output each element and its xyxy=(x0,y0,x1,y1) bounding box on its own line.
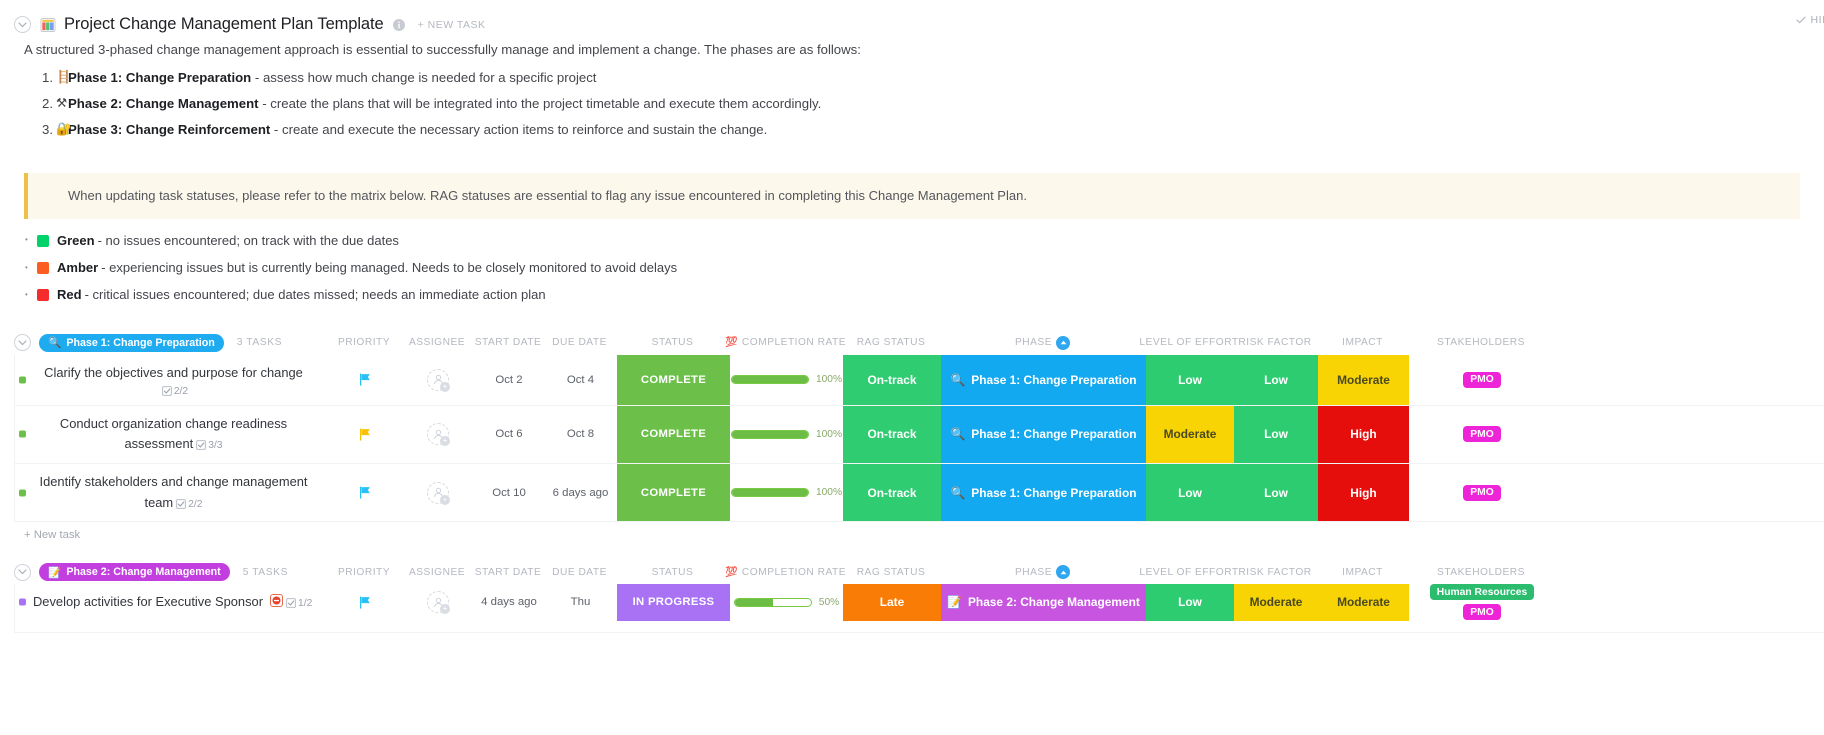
assignee-cell[interactable]: + xyxy=(402,464,474,521)
priority-flag-icon[interactable] xyxy=(359,373,371,386)
task-name: Develop activities for Executive Sponsor xyxy=(33,594,263,609)
task-table: 🔍Phase 1: Change Preparation3 TASKSPRIOR… xyxy=(0,331,1824,633)
group-pill-label: Phase 1: Change Preparation xyxy=(66,337,214,349)
completion-percent: 100% xyxy=(816,487,842,498)
group-task-count: 5 TASKS xyxy=(243,567,288,578)
rag-legend-desc: - no issues encountered; on track with t… xyxy=(98,231,399,251)
rag-status-cell[interactable]: On-track xyxy=(843,464,941,521)
phase-overview-item: 🪜Phase 1: Change Preparation - assess ho… xyxy=(42,68,1824,94)
rag-legend-desc: - experiencing issues but is currently b… xyxy=(101,258,677,278)
risk-factor-cell[interactable]: Moderate xyxy=(1234,584,1318,621)
rag-color-swatch xyxy=(37,235,49,247)
progress-bar xyxy=(731,430,809,439)
due-date-cell[interactable]: Thu xyxy=(544,584,617,621)
priority-cell[interactable] xyxy=(328,464,402,521)
task-name: Identify stakeholders and change managem… xyxy=(39,474,307,510)
phase-cell[interactable]: 🔍Phase 1: Change Preparation xyxy=(941,464,1146,521)
phase-cell-emoji-icon: 🔍 xyxy=(950,373,965,387)
phase-emoji-icon: 🪜 xyxy=(56,68,72,87)
phase-cell-label: Phase 1: Change Preparation xyxy=(971,373,1136,387)
stakeholders-cell[interactable]: Human ResourcesPMO xyxy=(1409,584,1555,621)
intro-paragraph: A structured 3-phased change management … xyxy=(24,40,1824,59)
rag-legend-name: Amber xyxy=(57,258,98,278)
stakeholder-tag[interactable]: Human Resources xyxy=(1430,584,1534,600)
subtask-count: 1/2 xyxy=(286,598,312,609)
rag-status-cell[interactable]: On-track xyxy=(843,406,941,463)
subtask-check-icon xyxy=(196,440,206,450)
rag-legend-name: Red xyxy=(57,285,82,305)
assignee-cell[interactable]: + xyxy=(402,355,474,405)
status-cell[interactable]: COMPLETE xyxy=(617,406,730,463)
phase-cell[interactable]: 🔍Phase 1: Change Preparation xyxy=(941,355,1146,405)
start-date-cell[interactable]: Oct 10 xyxy=(474,464,544,521)
phase-emoji-icon: ⚒ xyxy=(56,94,67,113)
intro-section: A structured 3-phased change management … xyxy=(0,40,1824,146)
collapse-group-icon[interactable] xyxy=(14,564,31,581)
rag-callout: When updating task statuses, please refe… xyxy=(24,173,1800,219)
phase-emoji-icon: 🔐 xyxy=(56,120,72,139)
table-row[interactable]: Conduct organization change readiness as… xyxy=(15,406,1824,464)
add-assignee-icon[interactable]: + xyxy=(440,604,450,614)
level-of-effort-cell[interactable]: Moderate xyxy=(1146,406,1234,463)
completion-rate-cell[interactable]: 50% xyxy=(730,584,843,621)
group-phase-pill[interactable]: 🔍Phase 1: Change Preparation xyxy=(39,334,224,352)
phase-cell-label: Phase 2: Change Management xyxy=(968,595,1140,609)
document-header: Project Change Management Plan Template … xyxy=(0,0,1824,40)
subtask-check-icon xyxy=(176,499,186,509)
completion-rate-cell[interactable]: 100% xyxy=(730,406,843,463)
due-date-cell[interactable]: 6 days ago xyxy=(544,464,617,521)
task-name: Clarify the objectives and purpose for c… xyxy=(44,365,303,380)
completion-percent: 100% xyxy=(816,374,842,385)
completion-rate-cell[interactable]: 100% xyxy=(730,464,843,521)
info-icon[interactable] xyxy=(393,19,405,31)
assignee-avatar[interactable]: + xyxy=(427,482,449,504)
hide-toggle[interactable]: HIDE xyxy=(1796,14,1824,26)
stakeholder-tag[interactable]: PMO xyxy=(1463,485,1500,501)
progress-bar xyxy=(734,598,812,607)
completion-rate-cell[interactable]: 100% xyxy=(730,355,843,405)
status-cell[interactable]: IN PROGRESS xyxy=(617,584,730,621)
phase-cell-emoji-icon: 🔍 xyxy=(950,427,965,441)
rag-legend-item: •Green - no issues encountered; on track… xyxy=(37,231,1824,258)
task-status-bullet xyxy=(19,599,26,606)
assignee-cell[interactable]: + xyxy=(402,584,474,621)
progress-bar xyxy=(731,375,809,384)
due-date-cell[interactable]: Oct 8 xyxy=(544,406,617,463)
priority-cell[interactable] xyxy=(328,406,402,463)
new-task-header-button[interactable]: + NEW TASK xyxy=(418,19,486,31)
task-group: 🔍Phase 1: Change Preparation3 TASKSPRIOR… xyxy=(0,331,1824,541)
collapse-document-icon[interactable] xyxy=(14,16,31,33)
hide-label: HIDE xyxy=(1811,14,1824,26)
priority-flag-icon[interactable] xyxy=(359,428,371,441)
subtask-check-icon xyxy=(286,598,296,608)
group-pill-emoji-icon: 📝 xyxy=(48,566,61,579)
start-date-cell[interactable]: Oct 6 xyxy=(474,406,544,463)
task-name-cell[interactable]: Develop activities for Executive Sponsor… xyxy=(15,584,328,621)
status-cell[interactable]: COMPLETE xyxy=(617,355,730,405)
table-row[interactable]: Clarify the objectives and purpose for c… xyxy=(15,355,1824,406)
stakeholders-cell[interactable]: PMO xyxy=(1409,355,1555,405)
group-pill-label: Phase 2: Change Management xyxy=(66,566,220,578)
task-group: 📝Phase 2: Change Management5 TASKSPRIORI… xyxy=(0,560,1824,633)
risk-factor-cell[interactable]: Low xyxy=(1234,464,1318,521)
risk-factor-cell[interactable]: Low xyxy=(1234,355,1318,405)
page-title: Project Change Management Plan Template xyxy=(64,15,384,34)
rag-status-cell[interactable]: Late xyxy=(843,584,941,621)
status-cell[interactable]: COMPLETE xyxy=(617,464,730,521)
subtask-count: 2/2 xyxy=(162,386,188,397)
table-row[interactable]: Develop activities for Executive Sponsor… xyxy=(15,584,1824,633)
start-date-cell[interactable]: 4 days ago xyxy=(474,584,544,621)
priority-cell[interactable] xyxy=(328,584,402,621)
rag-callout-text: When updating task statuses, please refe… xyxy=(68,188,1027,203)
priority-flag-icon[interactable] xyxy=(359,596,371,609)
list-table-icon xyxy=(40,17,56,33)
start-date-cell[interactable]: Oct 2 xyxy=(474,355,544,405)
phase-overview-desc: - assess how much change is needed for a… xyxy=(251,70,596,85)
subtask-check-icon xyxy=(162,386,172,396)
impact-cell[interactable]: Moderate xyxy=(1318,584,1409,621)
stakeholders-cell[interactable]: PMO xyxy=(1409,464,1555,521)
phase-overview-name: Phase 1: Change Preparation xyxy=(68,70,251,85)
stakeholder-tag[interactable]: PMO xyxy=(1463,426,1500,442)
stakeholders-cell[interactable]: PMO xyxy=(1409,406,1555,463)
group-pill-emoji-icon: 🔍 xyxy=(48,336,61,349)
rag-legend: •Green - no issues encountered; on track… xyxy=(0,231,1824,312)
completion-percent: 100% xyxy=(816,429,842,440)
bullet-icon: • xyxy=(25,234,37,246)
check-icon xyxy=(1796,16,1806,24)
collapse-group-icon[interactable] xyxy=(14,334,31,351)
due-date-cell[interactable]: Oct 4 xyxy=(544,355,617,405)
subtask-count: 2/2 xyxy=(176,499,202,510)
bullet-icon: • xyxy=(25,262,37,274)
task-name: Conduct organization change readiness as… xyxy=(60,416,287,452)
phase-cell-emoji-icon: 📝 xyxy=(947,595,962,609)
phase-cell[interactable]: 🔍Phase 1: Change Preparation xyxy=(941,406,1146,463)
table-row[interactable]: Identify stakeholders and change managem… xyxy=(15,464,1824,522)
phase-overview-name: Phase 2: Change Management xyxy=(68,96,259,111)
phase-cell-label: Phase 1: Change Preparation xyxy=(971,427,1136,441)
assignee-avatar[interactable]: + xyxy=(427,423,449,445)
task-status-bullet xyxy=(19,431,26,438)
phase-cell-label: Phase 1: Change Preparation xyxy=(971,486,1136,500)
assignee-avatar[interactable]: + xyxy=(427,591,449,613)
phase-overview-desc: - create the plans that will be integrat… xyxy=(259,96,822,111)
rag-color-swatch xyxy=(37,262,49,274)
add-assignee-icon[interactable]: + xyxy=(440,436,450,446)
phase-overview-item: 🔐Phase 3: Change Reinforcement - create … xyxy=(42,120,1824,146)
phase-overview-item: ⚒Phase 2: Change Management - create the… xyxy=(42,94,1824,120)
task-name-cell[interactable]: Clarify the objectives and purpose for c… xyxy=(15,355,328,405)
risk-factor-cell[interactable]: Low xyxy=(1234,406,1318,463)
add-assignee-icon[interactable]: + xyxy=(440,495,450,505)
phase-overview-desc: - create and execute the necessary actio… xyxy=(270,122,767,137)
rag-legend-name: Green xyxy=(57,231,95,251)
phase-cell-emoji-icon: 🔍 xyxy=(950,486,965,500)
rag-status-cell[interactable]: On-track xyxy=(843,355,941,405)
impact-cell[interactable]: High xyxy=(1318,464,1409,521)
level-of-effort-cell[interactable]: Low xyxy=(1146,355,1234,405)
group-task-count: 3 TASKS xyxy=(237,337,282,348)
progress-bar xyxy=(731,488,809,497)
level-of-effort-cell[interactable]: Low xyxy=(1146,464,1234,521)
new-task-row-button[interactable]: + New task xyxy=(0,522,1824,541)
assignee-cell[interactable]: + xyxy=(402,406,474,463)
phase-overview-list: 🪜Phase 1: Change Preparation - assess ho… xyxy=(24,68,1824,145)
task-name-cell[interactable]: Conduct organization change readiness as… xyxy=(15,406,328,463)
add-assignee-icon[interactable]: + xyxy=(440,382,450,392)
impact-cell[interactable]: Moderate xyxy=(1318,355,1409,405)
group-phase-pill[interactable]: 📝Phase 2: Change Management xyxy=(39,563,230,581)
stakeholder-tag[interactable]: PMO xyxy=(1463,604,1500,620)
rag-legend-item: •Red - critical issues encountered; due … xyxy=(37,285,1824,312)
priority-cell[interactable] xyxy=(328,355,402,405)
stakeholder-tag[interactable]: PMO xyxy=(1463,372,1500,388)
completion-percent: 50% xyxy=(819,597,839,608)
task-status-bullet xyxy=(19,489,26,496)
rag-legend-desc: - critical issues encountered; due dates… xyxy=(85,285,546,305)
assignee-avatar[interactable]: + xyxy=(427,369,449,391)
phase-cell[interactable]: 📝Phase 2: Change Management xyxy=(941,584,1146,621)
task-name-cell[interactable]: Identify stakeholders and change managem… xyxy=(15,464,328,521)
rag-legend-item: •Amber - experiencing issues but is curr… xyxy=(37,258,1824,285)
subtask-count: 3/3 xyxy=(196,440,222,451)
rag-color-swatch xyxy=(37,289,49,301)
level-of-effort-cell[interactable]: Low xyxy=(1146,584,1234,621)
priority-flag-icon[interactable] xyxy=(359,486,371,499)
bullet-icon: • xyxy=(25,289,37,301)
blocked-icon[interactable] xyxy=(270,594,283,607)
impact-cell[interactable]: High xyxy=(1318,406,1409,463)
phase-overview-name: Phase 3: Change Reinforcement xyxy=(68,122,270,137)
task-status-bullet xyxy=(19,376,26,383)
